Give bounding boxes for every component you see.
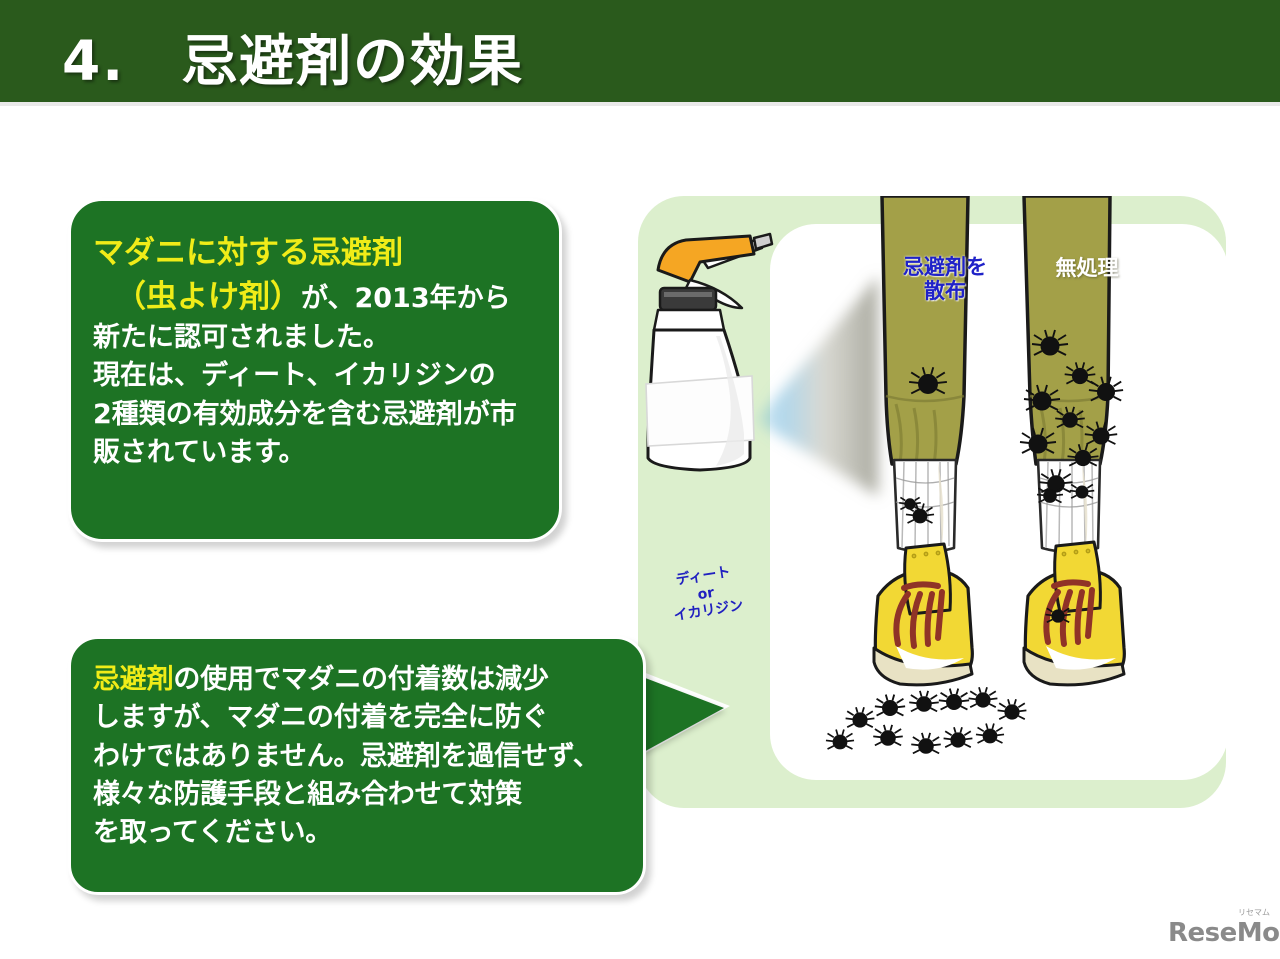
highlight-insect-repellent: （虫よけ剤） xyxy=(115,275,301,319)
tick xyxy=(944,727,973,747)
header-divider xyxy=(0,102,1280,106)
socks xyxy=(894,460,1100,552)
label-untreated-leg: 無処理 xyxy=(1032,256,1142,280)
info-box-caution-text: 忌避剤の使用でマダニの付着数は減少 しますが、マダニの付着を完全に防ぐ わけでは… xyxy=(93,661,627,853)
slide-root: 4. 忌避剤の効果 xyxy=(0,0,1280,959)
tick xyxy=(976,724,1004,744)
info-box-approval: マダニに対する忌避剤（虫よけ剤）が、2013年から 新たに認可されました。 現在… xyxy=(68,198,562,542)
info-box-caution: 忌避剤の使用でマダニの付着数は減少 しますが、マダニの付着を完全に防ぐ わけでは… xyxy=(68,636,646,895)
slide-header: 4. 忌避剤の効果 xyxy=(0,0,1280,102)
tick xyxy=(969,687,998,707)
tick xyxy=(899,497,921,509)
tick xyxy=(826,730,854,750)
shoe-left xyxy=(874,544,972,685)
info-box-approval-text: マダニに対する忌避剤（虫よけ剤）が、2013年から 新たに認可されました。 現在… xyxy=(93,231,543,472)
spray-mist xyxy=(756,276,878,496)
tick xyxy=(846,707,875,727)
tick xyxy=(909,691,939,712)
page-title: 4. 忌避剤の効果 xyxy=(62,16,524,96)
tick xyxy=(911,733,941,754)
leg-sprayed xyxy=(882,196,968,464)
highlight-repellent: マダニに対する忌避剤 xyxy=(93,235,403,271)
tick xyxy=(1037,488,1063,502)
watermark-resemom: ReseMom. リセマム xyxy=(1168,918,1280,948)
tick xyxy=(875,695,905,716)
watermark-ruby: リセマム xyxy=(1238,907,1270,918)
tick xyxy=(998,699,1027,719)
speech-tail xyxy=(640,676,724,754)
watermark-text: ReseMom. xyxy=(1168,918,1280,948)
shoe-right xyxy=(1024,542,1124,685)
tick xyxy=(1070,485,1094,499)
highlight-repellent-2: 忌避剤 xyxy=(93,664,173,695)
tick xyxy=(939,689,969,710)
tick xyxy=(873,725,903,746)
tick xyxy=(1045,608,1070,622)
spray-bottle xyxy=(646,234,772,470)
label-sprayed-leg: 忌避剤を 散布 xyxy=(890,255,1000,303)
